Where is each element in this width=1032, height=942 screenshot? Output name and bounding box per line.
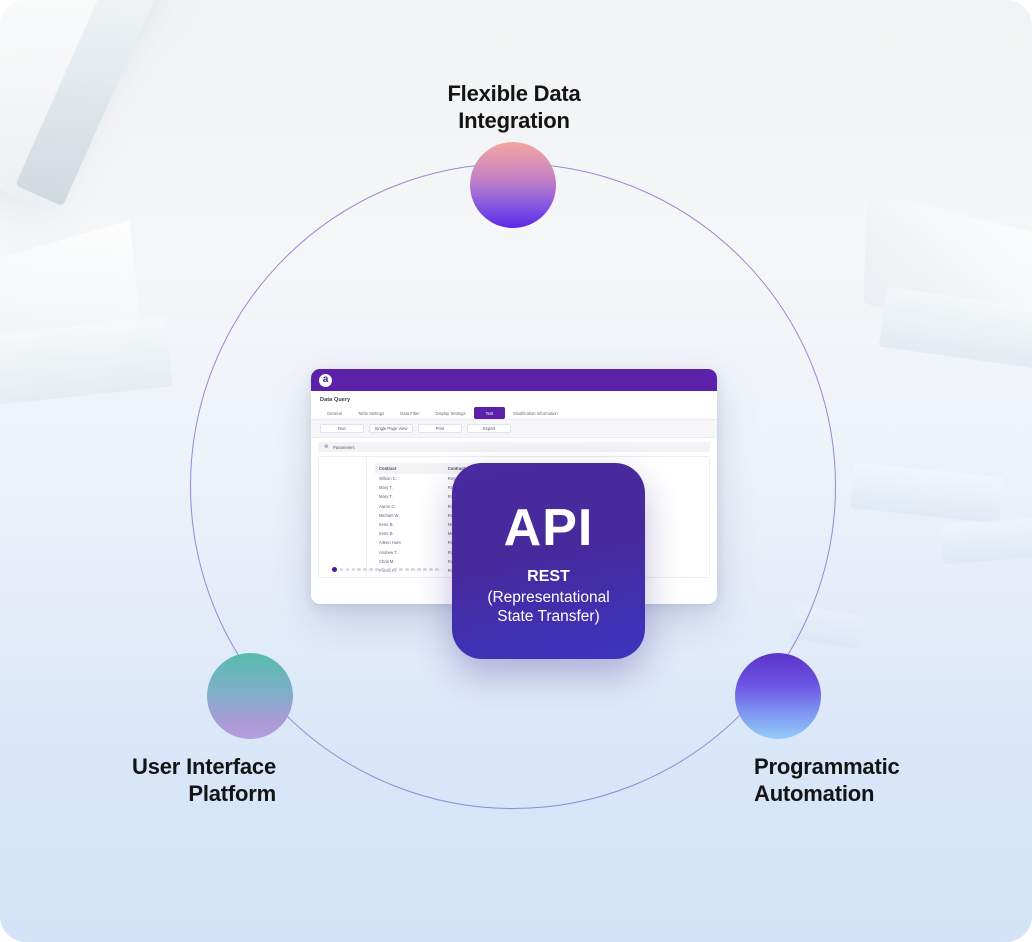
node-label-user-interface-platform: User Interface Platform [60,753,276,807]
pagination-page-15[interactable] [417,568,420,571]
infographic-canvas: Flexible Data Integration User Interface… [0,0,1032,942]
api-card-description-line1: (Representational [487,588,609,607]
background-shard-3 [0,220,142,399]
background-shard-7 [850,462,1004,523]
pagination-page-10[interactable] [387,568,390,571]
pagination[interactable]: ‹› [328,567,443,572]
pagination-page-18[interactable] [435,568,438,571]
api-card-title: API [504,502,594,554]
node-label-line1: Flexible Data [380,80,648,107]
pagination-page-17[interactable] [429,568,432,571]
background-shard-2 [15,0,197,206]
node-label-line2: Integration [380,107,648,134]
pagination-page-5[interactable] [357,568,360,571]
app-tab-modification-information[interactable]: Modification Information [505,407,565,419]
app-logo-icon: a [319,374,332,387]
app-toolbar: RunSingle Page ViewPrintExport [311,420,717,438]
background-shard-1 [0,0,162,210]
pagination-page-7[interactable] [369,568,372,571]
app-tab-display-settings[interactable]: Display Settings [428,407,474,419]
pagination-page-2[interactable] [340,568,343,571]
background-shard-5 [863,191,1032,359]
pagination-page-14[interactable] [411,568,414,571]
table-cell: Aileen Hunt [375,538,444,547]
app-tab-data-filter[interactable]: Data Filter [392,407,427,419]
app-tab-test[interactable]: Test [474,407,506,419]
app-page-title: Data Query [311,391,717,407]
app-tab-table-settings[interactable]: Table Settings [350,407,392,419]
background-shard-8 [941,516,1032,564]
pagination-page-6[interactable] [363,568,366,571]
table-column-header: Contract [375,463,444,474]
api-card-description: (Representational State Transfer) [487,588,609,626]
pagination-page-8[interactable] [375,568,378,571]
table-cell: Tina B. [375,575,444,578]
export-button[interactable]: Export [467,424,511,433]
parameters-label: Parameters [333,445,355,450]
pagination-page-12[interactable] [399,568,402,571]
node-circle-programmatic-automation [735,653,821,739]
app-tab-bar: GeneralTable SettingsData FilterDisplay … [311,407,717,420]
table-cell: Aaron G. [375,502,444,511]
background-shard-6 [879,287,1032,373]
background-shard-4 [0,317,173,414]
filter-icon: ☸ [324,445,329,450]
parameters-bar[interactable]: ☸ Parameters [318,442,710,452]
single-page-view-button[interactable]: Single Page View [369,424,413,433]
api-card: API REST (Representational State Transfe… [452,463,645,659]
table-cell: Andrew T. [375,548,444,557]
api-card-subtitle: REST [527,568,570,586]
node-label-line1: User Interface [60,753,276,780]
pagination-page-9[interactable] [381,568,384,571]
table-cell: Michael W. [375,511,444,520]
node-circle-user-interface-platform [207,653,293,739]
pagination-next-icon[interactable]: › [441,567,442,572]
pagination-page-1[interactable] [332,567,337,572]
node-label-programmatic-automation: Programmatic Automation [754,753,984,807]
table-cell: Irene B. [375,529,444,538]
table-cell: Mary T. [375,492,444,501]
pagination-page-13[interactable] [405,568,408,571]
table-cell: Chris M. [375,557,444,566]
node-label-flexible-data-integration: Flexible Data Integration [380,80,648,134]
pagination-page-3[interactable] [346,568,349,571]
run-button[interactable]: Run [320,424,364,433]
table-cell: Wilson C. [375,474,444,483]
app-titlebar: a [311,369,717,391]
pagination-page-16[interactable] [423,568,426,571]
table-cell: Mary T. [375,483,444,492]
app-tab-general[interactable]: General [319,407,350,419]
table-cell: Irene B. [375,520,444,529]
node-circle-flexible-data-integration [470,142,556,228]
pagination-page-11[interactable] [393,568,396,571]
api-card-description-line2: State Transfer) [487,607,609,626]
pagination-page-4[interactable] [352,568,355,571]
node-label-line1: Programmatic [754,753,984,780]
node-label-line2: Platform [60,780,276,807]
content-left-rail [319,457,367,577]
pagination-prev-icon[interactable]: ‹ [328,567,329,572]
print-button[interactable]: Print [418,424,462,433]
node-label-line2: Automation [754,780,984,807]
